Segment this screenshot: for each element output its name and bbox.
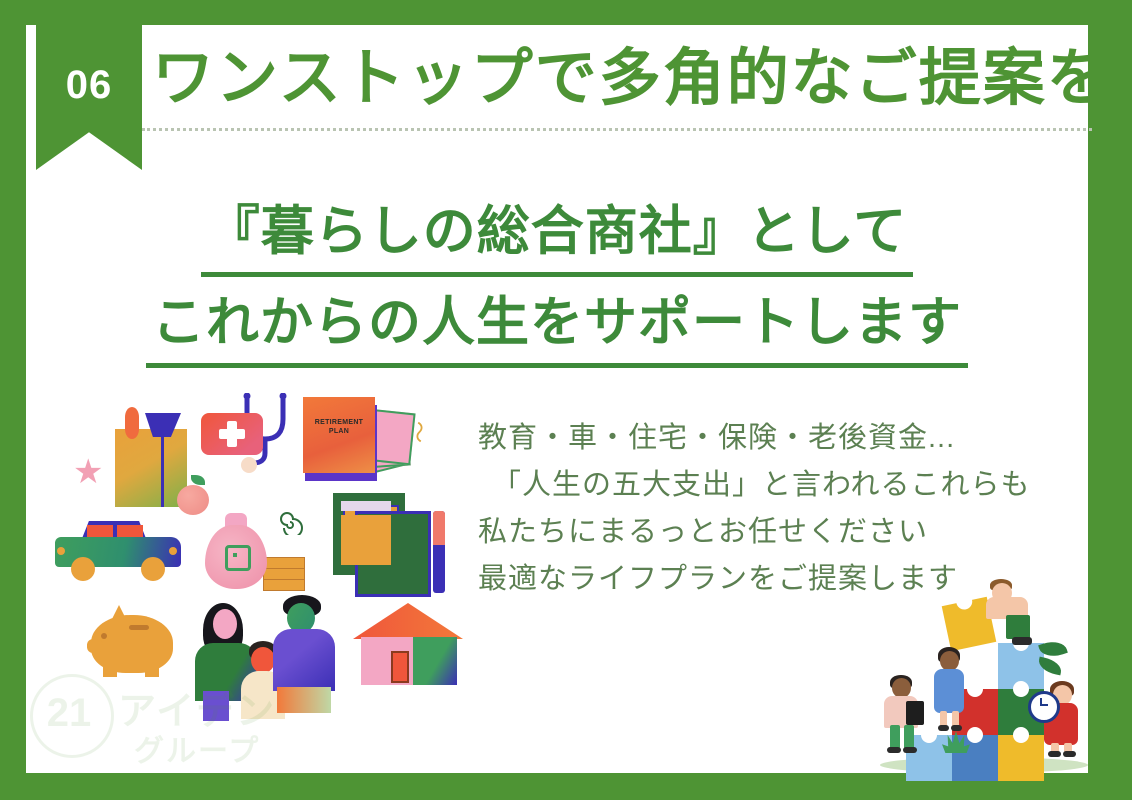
headline-line-1: 『暮らしの総合商社』として (201, 196, 913, 277)
piggy-bank-icon (91, 603, 181, 681)
grocery-bag-icon (115, 407, 193, 507)
section-title: ワンストップで多角的なご提案を (152, 36, 1092, 122)
family-icon (195, 595, 335, 725)
books-icon (333, 493, 453, 599)
person-with-clipboard (882, 675, 926, 755)
clipboard-icon (906, 701, 924, 725)
person-with-clock (1042, 681, 1086, 757)
money-bag-icon (201, 507, 305, 599)
house-icon (353, 603, 463, 687)
puzzle-piece-yellow-bottom (998, 735, 1044, 781)
headline-row-2: これからの人生をサポートします (26, 287, 1088, 368)
section-number: 06 (36, 65, 142, 105)
car-icon (55, 521, 185, 583)
headline-block: 『暮らしの総合商社』として これからの人生をサポートします (26, 196, 1088, 378)
spiral-icon (277, 509, 303, 539)
puzzle-illustration (880, 565, 1088, 773)
body-copy-line-1: 教育・車・住宅・保険・老後資金... (478, 415, 1078, 462)
coins-icon (263, 557, 303, 591)
person-placing-piece (984, 579, 1038, 645)
house-door (391, 651, 409, 683)
medical-kit-icon (201, 393, 281, 483)
headline-row-1: 『暮らしの総合商社』として (26, 196, 1088, 277)
retirement-plan-label: RETIREMENT PLAN (303, 419, 375, 437)
headline-line-2: これからの人生をサポートします (146, 287, 968, 368)
alarm-clock-icon (1028, 691, 1060, 723)
body-copy-line-3: 私たちにまるっとお任せください (478, 509, 1078, 556)
person-blue-dress (930, 647, 972, 731)
illustration-collage: ★ (55, 385, 455, 755)
header-divider-dotted (142, 128, 1092, 131)
retirement-plan-booklet: RETIREMENT PLAN 〜 (303, 397, 413, 483)
squiggle-icon: 〜 (407, 421, 429, 443)
slide-root: 06 ワンストップで多角的なご提案を 『暮らしの総合商社』として これからの人生… (0, 0, 1132, 800)
body-copy-line-2: 「人生の五大支出」と言われるこれらも (478, 462, 1078, 509)
family-father (273, 595, 335, 713)
